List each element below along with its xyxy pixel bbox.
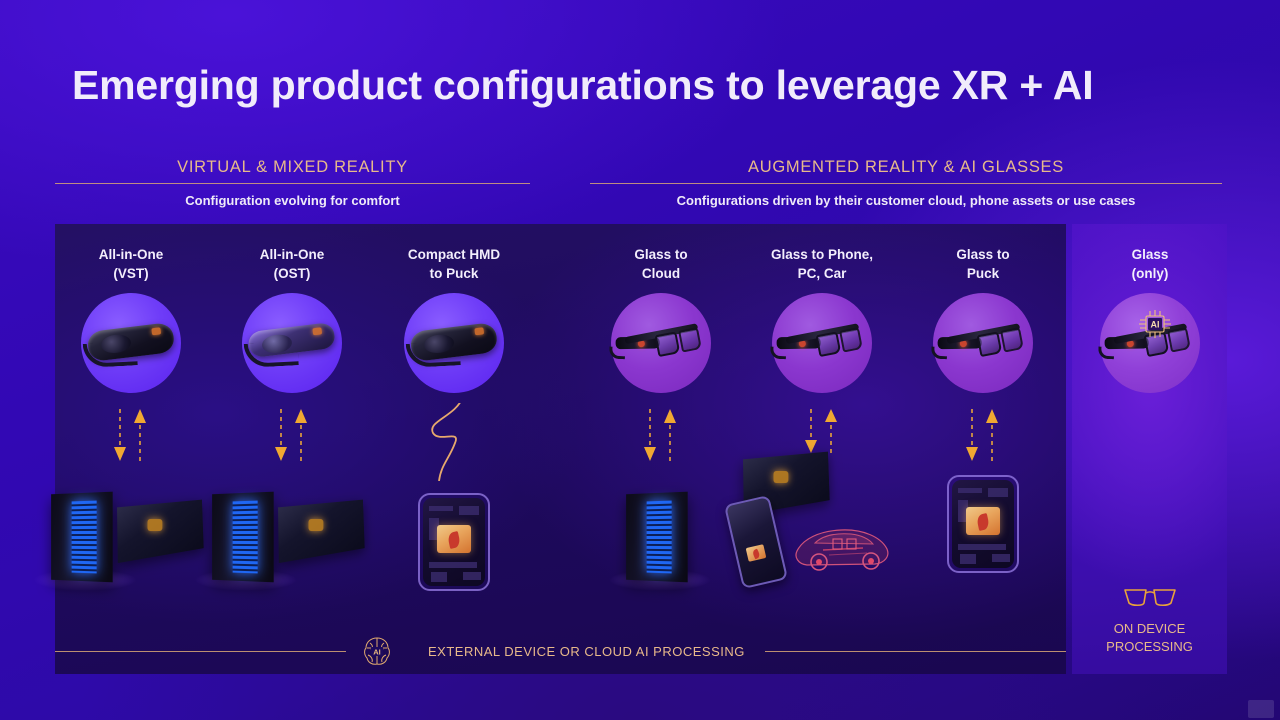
- ai-badge-label: AI: [1150, 320, 1159, 330]
- column-label: Compact HMD to Puck: [408, 245, 500, 283]
- ar-glasses-ai-figure: AI: [1090, 293, 1210, 393]
- phone-icon: [733, 499, 779, 585]
- ar-glasses-figure: [762, 293, 882, 393]
- ar-glasses-figure: [601, 293, 721, 393]
- bidirectional-arrows: [104, 407, 158, 463]
- bidirectional-arrows: [956, 407, 1010, 463]
- on-device-processing-block: ON DEVICE PROCESSING: [1072, 585, 1227, 655]
- compact-hmd-figure: [394, 293, 514, 393]
- brain-ai-label: AI: [373, 648, 381, 657]
- ai-chip-icon: AI: [1138, 309, 1172, 339]
- vr-headset-vst-figure: [71, 293, 191, 393]
- server-rack-icon: [210, 491, 284, 589]
- column-all-in-one-ost: All-in-One (OST): [232, 224, 352, 674]
- ar-glasses-figure: [923, 293, 1043, 393]
- column-label: Glass (only): [1132, 245, 1169, 283]
- footer-divider-left: [55, 651, 346, 652]
- configurations-panel: [55, 224, 1066, 674]
- external-processing-label: EXTERNAL DEVICE OR CLOUD AI PROCESSING: [428, 644, 745, 659]
- group-divider: [590, 183, 1222, 184]
- footer-divider-right: [765, 651, 1066, 652]
- tethered-cable: [409, 403, 499, 481]
- vr-headset-ost-figure: [232, 293, 352, 393]
- server-rack-icon: [49, 491, 123, 589]
- bidirectional-arrows: [634, 407, 688, 463]
- column-glass-to-phone-pc-car: Glass to Phone, PC, Car: [762, 224, 882, 674]
- corner-watermark: [1248, 700, 1274, 718]
- group-subtitle: Configuration evolving for comfort: [55, 193, 530, 208]
- brain-ai-icon: AI: [362, 635, 392, 667]
- column-label: Glass to Cloud: [634, 245, 687, 283]
- bidirectional-arrows: [265, 407, 319, 463]
- server-rack-icon: [624, 491, 698, 589]
- bidirectional-arrows: [795, 407, 849, 455]
- group-title: AUGMENTED REALITY & AI GLASSES: [590, 158, 1222, 177]
- column-all-in-one-vst: All-in-One (VST): [71, 224, 191, 674]
- on-device-processing-label: ON DEVICE PROCESSING: [1072, 620, 1227, 655]
- group-subtitle: Configurations driven by their customer …: [590, 193, 1222, 208]
- puck-figure: [359, 487, 549, 591]
- group-header-augmented-reality-ai-glasses: AUGMENTED REALITY & AI GLASSES Configura…: [590, 158, 1222, 208]
- page-title: Emerging product configurations to lever…: [72, 62, 1172, 109]
- car-icon: [789, 517, 893, 573]
- puck-figure: [888, 469, 1078, 573]
- column-compact-hmd-to-puck: Compact HMD to Puck: [394, 224, 514, 674]
- column-glass-to-cloud: Glass to Cloud: [601, 224, 721, 674]
- group-header-virtual-mixed-reality: VIRTUAL & MIXED REALITY Configuration ev…: [55, 158, 530, 208]
- column-glass-to-puck: Glass to Puck: [923, 224, 1043, 674]
- puck-icon: [418, 493, 490, 591]
- group-title: VIRTUAL & MIXED REALITY: [55, 158, 530, 177]
- column-label: All-in-One (OST): [260, 245, 325, 283]
- column-label: Glass to Phone, PC, Car: [771, 245, 873, 283]
- glasses-outline-icon: [1072, 585, 1227, 611]
- column-label: Glass to Puck: [956, 245, 1009, 283]
- column-label: All-in-One (VST): [99, 245, 164, 283]
- group-divider: [55, 183, 530, 184]
- puck-icon: [947, 475, 1019, 573]
